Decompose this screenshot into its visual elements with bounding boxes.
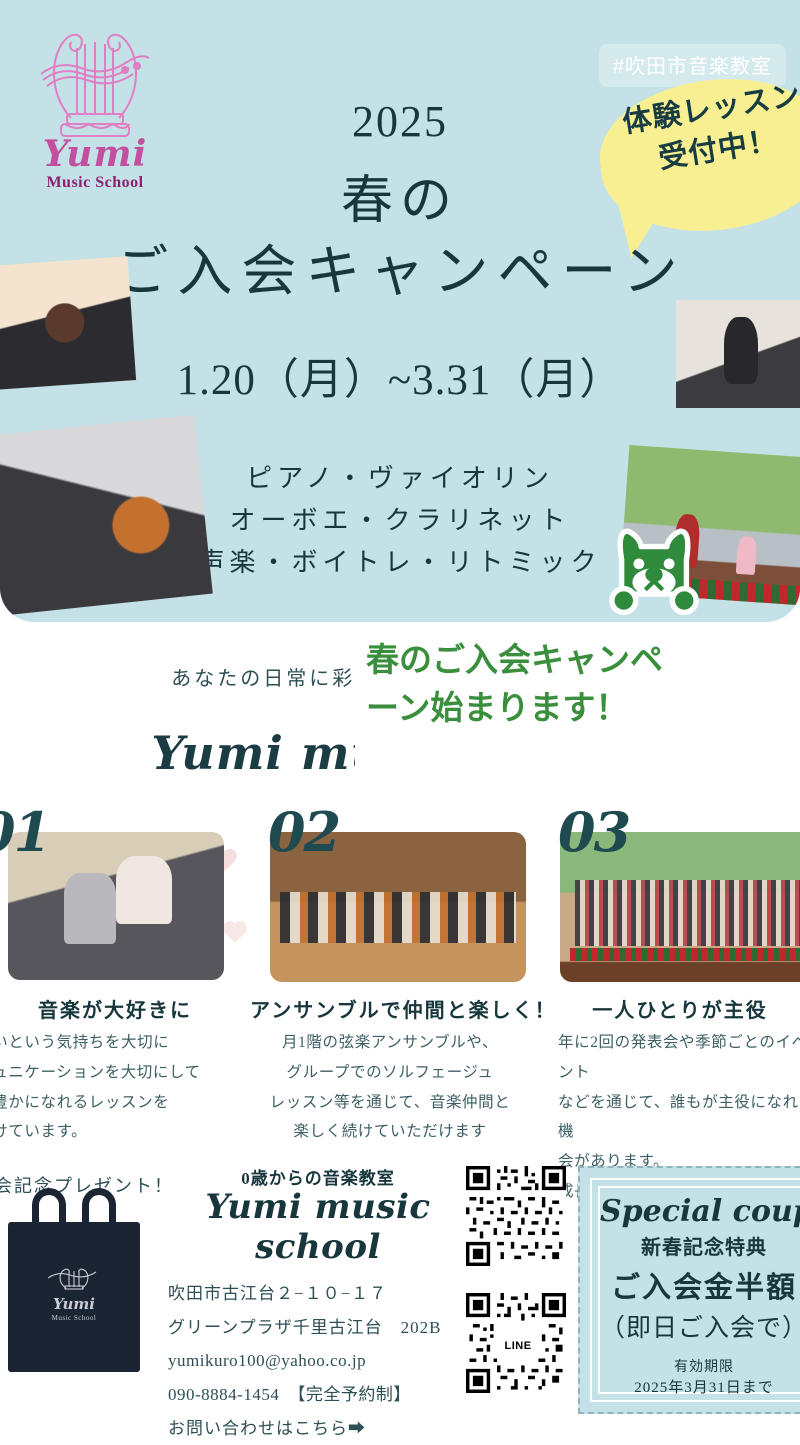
photo-teacher-studio — [676, 300, 800, 408]
qr-line-label: LINE — [501, 1339, 534, 1353]
photo-piano-lesson — [0, 256, 136, 391]
contact-phone[interactable]: 090-8884-1454 【完全予約制】 — [168, 1378, 468, 1412]
qr-code-line-wrap: LINE — [466, 1293, 570, 1398]
coupon-expiry-date: 2025年3月31日まで — [600, 1376, 800, 1397]
coupon-box: Special coupon 新春記念特典 ご入会金半額 （即日ご入会で） 有効… — [578, 1166, 800, 1414]
coupon-expiry-label: 有効期限 — [600, 1356, 800, 1376]
coupon-subtitle: 新春記念特典 — [600, 1231, 800, 1260]
feature-number-2: 02 — [268, 800, 339, 864]
coupon-offer: ご入会金半額 — [600, 1264, 800, 1306]
bottom-section: ご入会記念プレゼント！ Yumi Music School — [0, 1160, 800, 1422]
overlay-card-text: 春のご入会キャンペーン始まります！ — [366, 636, 686, 731]
headline-line-1: 春の — [0, 158, 800, 233]
contact-cta[interactable]: お問い合わせはこちら➡ — [168, 1412, 468, 1445]
contact-address-line-1: 吹田市古江台２−１０−１７ — [168, 1277, 468, 1311]
feature-title-3: 一人ひとりが主役 — [540, 994, 800, 1023]
features-section: 01 音楽が大好きに 楽しいという気持ちを大切に コミュニケーションを大切にして… — [0, 806, 800, 1162]
feature-title-2: アンサンブルで仲間と楽しく！ — [250, 994, 530, 1023]
contact-details: 吹田市古江台２−１０−１７ グリーンプラザ千里古江台 202B yumikuro… — [168, 1277, 468, 1445]
contact-block: 0歳からの音楽教室 Yumi music school 吹田市古江台２−１０−１… — [168, 1164, 468, 1445]
qr-code-website[interactable] — [466, 1166, 566, 1266]
green-bear-icon — [600, 512, 708, 620]
flyer-page: Yumi Music School #吹田市音楽教室 体験レッスン 受付中！ 2… — [0, 0, 800, 1422]
coupon-border-inner: Special coupon 新春記念特典 ご入会金半額 （即日ご入会で） 有効… — [598, 1186, 800, 1394]
feature-number-3: 03 — [558, 800, 629, 864]
feature-number-1: 01 — [0, 800, 49, 864]
coupon-border-outer: Special coupon 新春記念特典 ご入会金半額 （即日ご入会で） 有効… — [590, 1178, 800, 1402]
tote-bag-image: Yumi Music School — [8, 1222, 140, 1372]
photo-violin-lesson — [0, 414, 213, 617]
contact-school-name: Yumi music school — [168, 1187, 468, 1267]
bag-lyre-icon — [48, 1266, 100, 1292]
coupon-script-title: Special coupon — [600, 1194, 800, 1229]
qr-codes: LINE — [466, 1166, 570, 1398]
bag-handle-right — [82, 1188, 116, 1234]
feature-body-1: 楽しいという気持ちを大切に コミュニケーションを大切にして 心が豊かになれるレッ… — [0, 1028, 240, 1147]
bag-handle-left — [32, 1188, 66, 1234]
feature-title-1: 音楽が大好きに — [0, 994, 240, 1023]
contact-tagline: 0歳からの音楽教室 — [168, 1164, 468, 1189]
feature-body-2: 月1階の弦楽アンサンブルや、 グループでのソルフェージュ レッスン等を通じて、音… — [250, 1028, 530, 1147]
bag-logo-subtitle: Music School — [8, 1314, 140, 1322]
bag-logo: Yumi Music School — [8, 1266, 140, 1322]
contact-email[interactable]: yumikuro100@yahoo.co.jp — [168, 1344, 468, 1378]
bag-logo-script: Yumi — [8, 1297, 140, 1312]
coupon-note: （即日ご入会で） — [600, 1308, 800, 1344]
contact-address-line-2: グリーンプラザ千里古江台 202B — [168, 1311, 468, 1345]
campaign-year: 2025 — [0, 96, 800, 147]
hero-section: Yumi Music School #吹田市音楽教室 体験レッスン 受付中！ 2… — [0, 0, 800, 622]
